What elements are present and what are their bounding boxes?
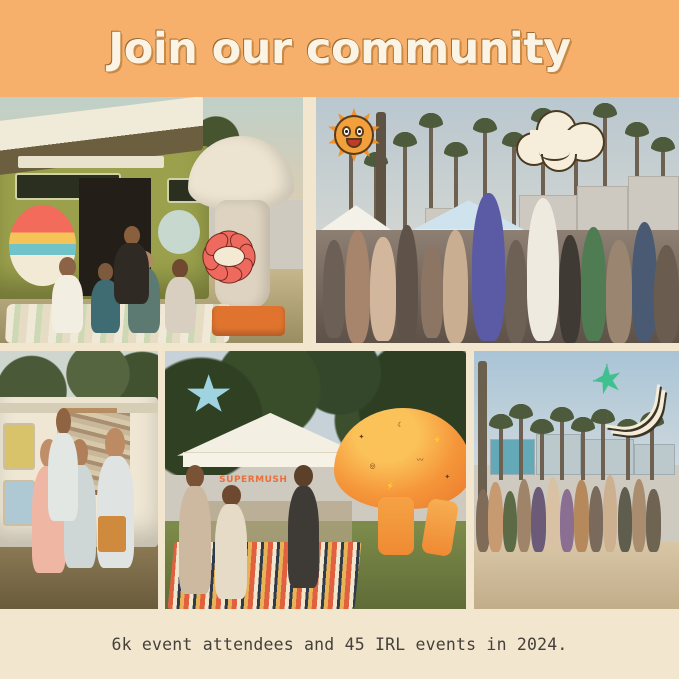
person (47, 408, 79, 522)
cloud-icon (516, 107, 607, 176)
crowd-person (559, 235, 581, 343)
mushroom-stem (378, 497, 414, 555)
crowd-person (503, 491, 517, 552)
sun-mouth (346, 138, 362, 148)
crowd-person (323, 240, 345, 338)
crowd-person (646, 489, 660, 552)
person (50, 257, 85, 333)
people-group (42, 230, 236, 333)
crowd-person (443, 230, 468, 343)
photo-scene (0, 97, 303, 343)
photo-scene: ONE SOL HEALING LOOKS GOOD ON YOU SUPERM… (316, 97, 679, 343)
crowd-group-photo (474, 465, 679, 553)
crowd-person (505, 240, 527, 343)
crowd-person (574, 480, 588, 552)
poster: Join our community (0, 0, 679, 679)
stats-caption: 6k event attendees and 45 IRL events in … (111, 635, 567, 654)
crowd-person (517, 479, 531, 553)
person (213, 485, 249, 599)
photo-gallery-grid: ONE SOL HEALING LOOKS GOOD ON YOU SUPERM… (0, 97, 679, 609)
sun-eye (342, 126, 352, 137)
van-decorated-panel (3, 480, 35, 526)
gallery-photo-top-right[interactable]: ONE SOL HEALING LOOKS GOOD ON YOU SUPERM… (316, 97, 679, 343)
header-banner: Join our community (0, 0, 679, 97)
footer-banner: 6k event attendees and 45 IRL events in … (0, 609, 679, 679)
crowd-person (589, 486, 603, 553)
crowd-person (603, 475, 617, 552)
person (285, 465, 321, 589)
crowd-person (560, 489, 574, 552)
van-brand-band (18, 156, 163, 168)
gallery-photo-middle-left[interactable] (0, 351, 158, 609)
gallery-photo-middle-center[interactable]: SUPERMUSH ✦ ☾ ⚡ ◎ 〰 ⚡ ✦ (165, 351, 466, 609)
crowd-person (654, 245, 679, 343)
crowd-person (345, 230, 370, 343)
photo-scene (474, 351, 679, 609)
crowd-person (632, 479, 646, 553)
inflatable-mushroom: ✦ ☾ ⚡ ◎ 〰 ⚡ ✦ (334, 408, 466, 552)
page-title: Join our community (108, 24, 570, 74)
person (112, 226, 151, 305)
crowd-person (531, 487, 545, 552)
gallery-photo-middle-right[interactable] (474, 351, 679, 609)
sun-icon (323, 104, 385, 166)
person (163, 259, 198, 333)
crowd-person (527, 198, 560, 341)
van-decorated-panel (3, 423, 35, 469)
crowd-person (581, 227, 606, 340)
person (177, 465, 213, 594)
crowd-person (606, 240, 631, 343)
crowd-person (396, 225, 418, 343)
crowd-person (488, 482, 502, 552)
shooting-star-icon (593, 364, 655, 431)
crowd-person (618, 487, 632, 552)
crowd-person (421, 245, 443, 338)
photo-scene (0, 351, 158, 609)
photo-scene: SUPERMUSH ✦ ☾ ⚡ ◎ 〰 ⚡ ✦ (165, 351, 466, 609)
crowd-person (661, 482, 677, 552)
person-shorts (98, 516, 126, 552)
crowd-person (472, 193, 505, 341)
cloud-smile (539, 143, 570, 161)
sun-eye (355, 126, 365, 137)
star-trail (606, 378, 660, 434)
crowd-person (546, 477, 560, 552)
gallery-photo-top-left[interactable] (0, 97, 303, 343)
crowd-person (370, 237, 395, 340)
